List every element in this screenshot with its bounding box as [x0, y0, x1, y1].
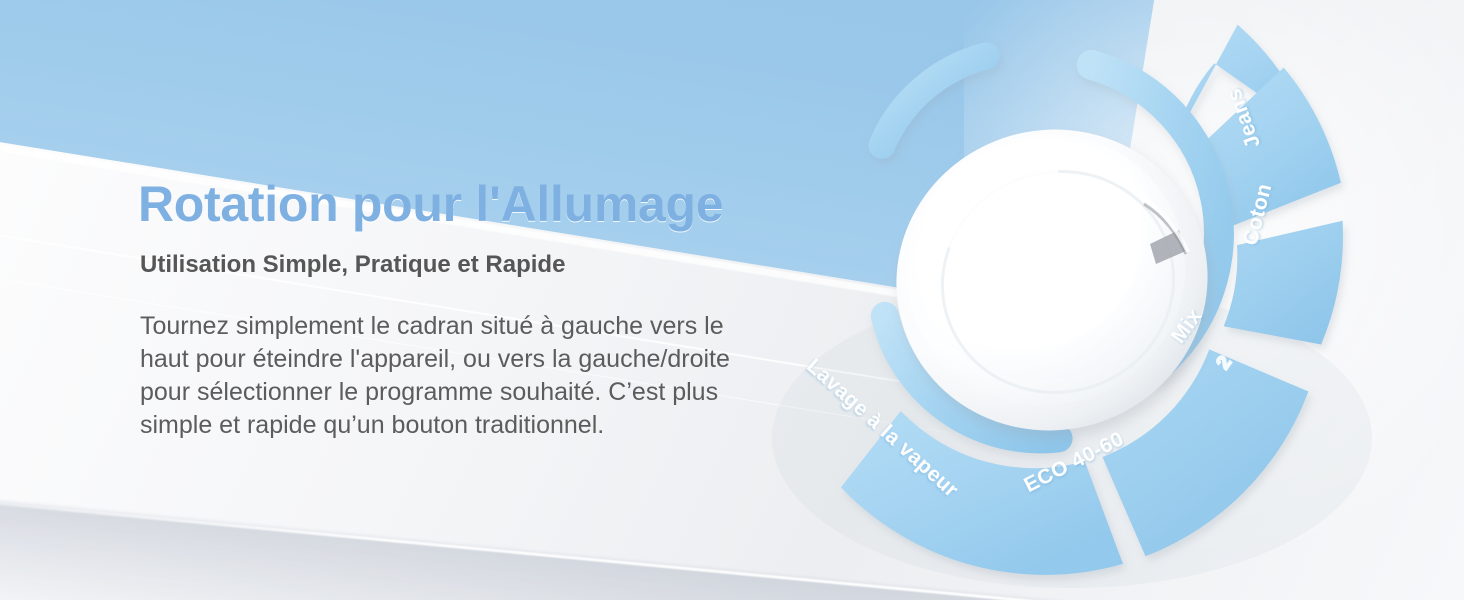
copy-block: Rotation pour l'Allumage Utilisation Sim… — [138, 178, 798, 442]
page-subtitle: Utilisation Simple, Pratique et Rapide — [140, 251, 798, 279]
page-title: Rotation pour l'Allumage — [138, 178, 798, 231]
body-paragraph: Tournez simplement le cadran situé à gau… — [140, 310, 760, 442]
hero-banner: Rotation pour l'Allumage Utilisation Sim… — [0, 0, 1464, 600]
dial-ring-arc-upper — [874, 56, 995, 145]
program-selector-dial[interactable]: Jeans Coton Mix 2 ECO 40-60 Lavage à la … — [742, 8, 1464, 600]
